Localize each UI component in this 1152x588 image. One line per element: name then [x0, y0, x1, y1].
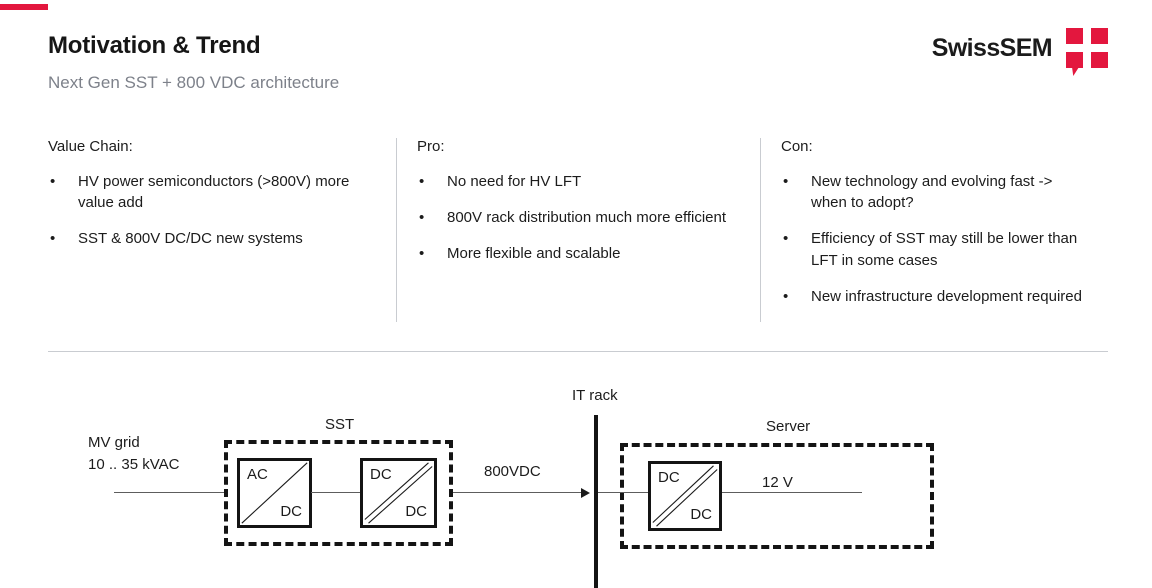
converter-output-label: DC: [405, 503, 427, 520]
source-label-line1: MV grid: [88, 433, 140, 453]
it-rack-label: IT rack: [572, 386, 618, 406]
converter-block-dc-dc-server: DC DC: [648, 461, 722, 531]
output-voltage-label: 12 V: [762, 473, 793, 493]
architecture-diagram: MV grid 10 .. 35 kVAC SST AC DC DC DC: [0, 0, 1152, 588]
server-output-wire: [722, 492, 862, 493]
slide-root: Motivation & Trend Next Gen SST + 800 VD…: [0, 0, 1152, 588]
converter-input-label: DC: [658, 469, 680, 486]
converter-block-dc-dc-sst: DC DC: [360, 458, 437, 528]
source-label-line2: 10 .. 35 kVAC: [88, 455, 179, 475]
dc-bus-label: 800VDC: [484, 462, 541, 482]
rack-to-server-wire: [598, 492, 650, 493]
converter-output-label: DC: [690, 506, 712, 523]
grid-input-wire: [114, 492, 226, 493]
dc-bus-arrow-icon: [581, 488, 590, 498]
server-label: Server: [766, 417, 810, 437]
converter-input-label: DC: [370, 466, 392, 483]
converter-block-ac-dc: AC DC: [237, 458, 312, 528]
dc-bus-wire: [453, 492, 581, 493]
converter-input-label: AC: [247, 466, 268, 483]
it-rack-bar: [594, 415, 598, 588]
converter-output-label: DC: [280, 503, 302, 520]
sst-internal-wire: [311, 492, 361, 493]
sst-label: SST: [325, 415, 354, 435]
